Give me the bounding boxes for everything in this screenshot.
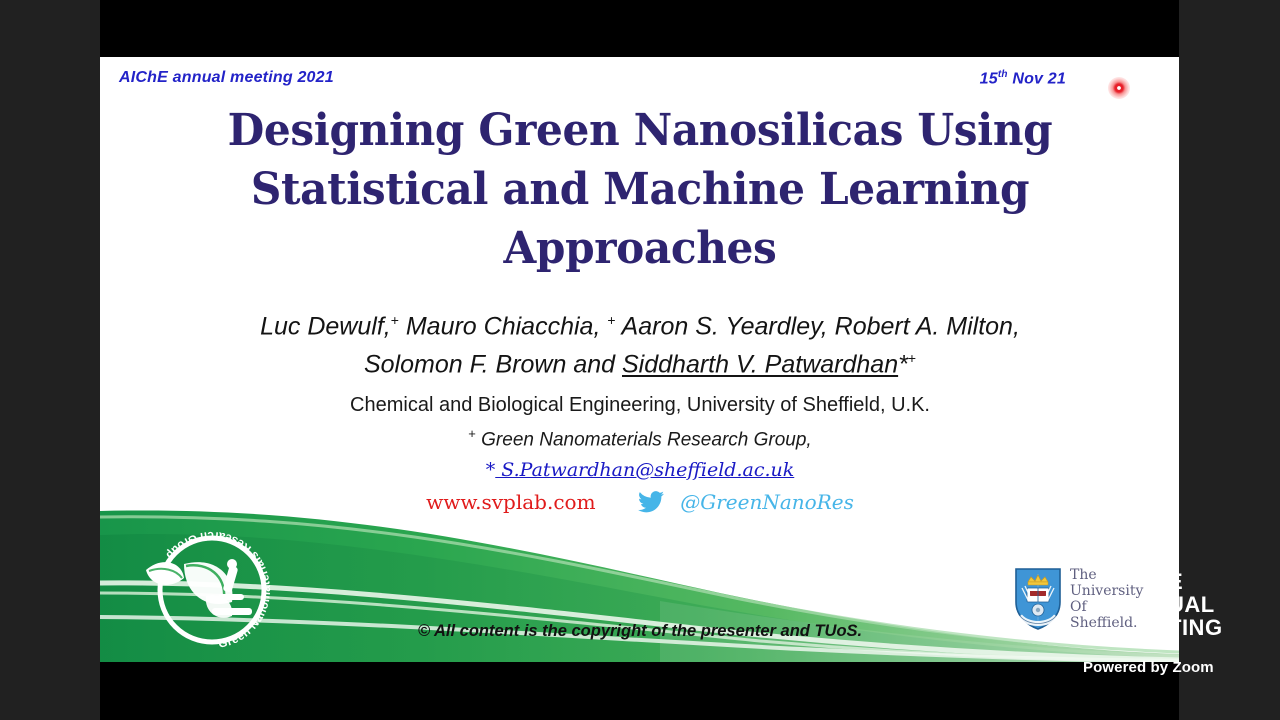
zoom-meeting-screen: AIChE annual meeting 2021 15th Nov 21 De… xyxy=(0,0,1280,720)
author-patwardhan: Siddharth V. Patwardhan xyxy=(622,351,898,379)
date-ordinal-suffix: th xyxy=(998,69,1008,80)
research-group-name: Green Nanomaterials Research Group, xyxy=(481,429,812,450)
sheffield-line-3: Of xyxy=(1070,599,1143,615)
affiliation-marker-plus: + xyxy=(607,312,615,328)
slide-title-line-3: Approaches xyxy=(179,219,1101,278)
slide-title-line-1: Designing Green Nanosilicas Using xyxy=(179,101,1101,160)
date-month-year: Nov 21 xyxy=(1008,70,1066,87)
slide-date-header: 15th Nov 21 xyxy=(980,69,1066,88)
authors-yeardley-milton: Aaron S. Yeardley, Robert A. Milton, xyxy=(616,312,1020,340)
affiliation-department: Chemical and Biological Engineering, Uni… xyxy=(140,394,1140,417)
date-day: 15 xyxy=(980,70,998,87)
aiche-branding-line-2: UAL xyxy=(1168,593,1280,616)
corresponding-email-line: * S.Patwardhan@sheffield.ac.uk xyxy=(140,459,1140,481)
affiliation-research-group: + Green Nanomaterials Research Group, xyxy=(140,426,1140,451)
author-chiacchia: Mauro Chiacchia, xyxy=(399,312,607,340)
sheffield-line-2: University xyxy=(1070,583,1143,599)
affiliation-marker-plus: + xyxy=(468,426,476,441)
author-line-2: Solomon F. Brown and Siddharth V. Patwar… xyxy=(170,342,1110,380)
sheffield-line-4: Sheffield. xyxy=(1070,615,1143,631)
presentation-slide: AIChE annual meeting 2021 15th Nov 21 De… xyxy=(100,57,1179,662)
affiliation-marker-plus: + xyxy=(391,312,399,328)
sheffield-crest-icon xyxy=(1012,566,1064,632)
author-line-1: Luc Dewulf,+ Mauro Chiacchia, + Aaron S.… xyxy=(170,304,1110,342)
aiche-branding-line-3: TING xyxy=(1168,616,1280,639)
aiche-annual-meeting-branding: E UAL TING xyxy=(1168,570,1280,639)
powered-by-zoom-label: Powered by Zoom xyxy=(1083,659,1214,676)
meeting-name-header: AIChE annual meeting 2021 xyxy=(119,69,334,87)
slide-title-line-2: Statistical and Machine Learning xyxy=(179,160,1101,219)
email-link[interactable]: S.Patwardhan@sheffield.ac.uk xyxy=(495,459,794,481)
recording-dot-icon xyxy=(1108,77,1130,99)
sheffield-line-1: The xyxy=(1070,567,1143,583)
author-dewulf: Luc Dewulf, xyxy=(260,312,391,340)
aiche-branding-line-1: E xyxy=(1168,570,1280,593)
slide-title: Designing Green Nanosilicas Using Statis… xyxy=(179,101,1101,278)
corresponding-marker: * xyxy=(898,351,908,379)
author-brown: Solomon F. Brown and xyxy=(364,351,622,379)
copyright-notice: © All content is the copyright of the pr… xyxy=(140,622,1140,641)
sheffield-wordmark: The University Of Sheffield. xyxy=(1070,567,1143,631)
corresponding-marker: * xyxy=(486,459,496,481)
author-list: Luc Dewulf,+ Mauro Chiacchia, + Aaron S.… xyxy=(170,304,1110,381)
affiliation-marker-plus: + xyxy=(908,350,916,366)
university-of-sheffield-logo: The University Of Sheffield. xyxy=(1008,560,1171,638)
